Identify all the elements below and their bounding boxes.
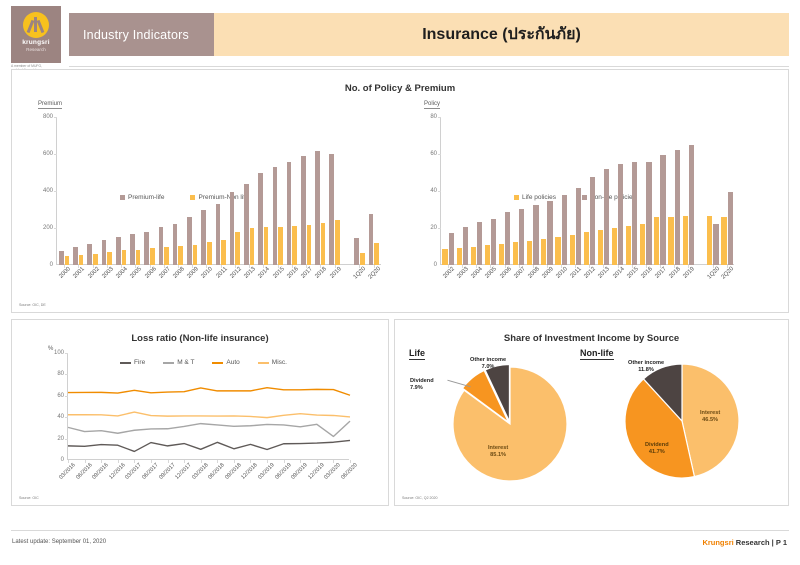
pie-life-interest-value: 85.1% xyxy=(490,452,506,458)
bar-group xyxy=(214,117,228,265)
pie-heading-nonlife: Non-life xyxy=(580,348,614,360)
x-axis-label-text: 2016 xyxy=(286,266,300,280)
y-axis-tick xyxy=(54,228,57,229)
x-axis-label: 2019 xyxy=(681,265,695,295)
x-axis-label-text: 2012 xyxy=(229,266,243,280)
x-axis-label: 2008 xyxy=(171,265,185,295)
krungsri-logo: krungsri Research xyxy=(11,6,61,63)
x-axis-tick xyxy=(284,460,285,463)
pie-life-dividend-name: Dividend xyxy=(410,378,434,384)
loss-ratio-line-plot: 03/201606/201609/201612/201603/201706/20… xyxy=(67,353,349,460)
x-axis-label: 2005 xyxy=(128,265,142,295)
x-axis-label: 2002 xyxy=(441,265,455,295)
x-axis-label: 2Q20 xyxy=(720,265,734,295)
x-axis-label-text: 2007 xyxy=(158,266,172,280)
bar-group xyxy=(582,117,596,265)
bar xyxy=(360,253,365,265)
bar xyxy=(668,217,673,265)
pie-nonlife-interest-name: Interest xyxy=(700,410,720,416)
x-axis-label: 2009 xyxy=(185,265,199,295)
y-axis-tick xyxy=(65,374,68,375)
bar-group xyxy=(228,117,242,265)
x-axis-label-text: 2010 xyxy=(555,266,569,280)
latest-update-text: Latest update: September 01, 2020 xyxy=(12,539,106,545)
x-axis-label: 2004 xyxy=(469,265,483,295)
bar-group xyxy=(720,117,734,265)
bar xyxy=(689,145,694,265)
x-axis-label-text: 2015 xyxy=(272,266,286,280)
x-axis-label: 2003 xyxy=(455,265,469,295)
bar xyxy=(660,155,665,265)
x-axis-label-text: 03/2016 xyxy=(58,462,77,481)
bar xyxy=(258,173,263,265)
bar-group xyxy=(171,117,185,265)
premium-x-labels: 2000200120022003200420052006200720082009… xyxy=(57,265,381,295)
x-axis-label xyxy=(342,265,353,295)
x-axis-label-text: 2016 xyxy=(640,266,654,280)
bar xyxy=(193,245,198,265)
x-axis-label-text: 2014 xyxy=(612,266,626,280)
x-axis-label-text: 2017 xyxy=(300,266,314,280)
x-axis-label-text: 03/2020 xyxy=(324,462,343,481)
bar xyxy=(87,244,92,265)
x-axis-label: 2012 xyxy=(228,265,242,295)
bar-group xyxy=(441,117,455,265)
bar xyxy=(449,233,454,265)
x-axis-label: 2006 xyxy=(498,265,512,295)
x-axis-label-text: 2005 xyxy=(485,266,499,280)
premium-axis-unit: Premium xyxy=(38,101,62,109)
x-axis-label-text: 06/2017 xyxy=(141,462,160,481)
pie-life-label-other: Other income 7.0% xyxy=(470,357,506,371)
x-axis-label-text: 2008 xyxy=(527,266,541,280)
x-axis-label-text: 12/2017 xyxy=(174,462,193,481)
bar xyxy=(250,228,255,265)
bar xyxy=(315,151,320,265)
x-axis-label-text: 2005 xyxy=(130,266,144,280)
bar xyxy=(463,227,468,265)
bar xyxy=(584,232,589,265)
x-axis-label-text: 2011 xyxy=(570,266,583,279)
y-axis-tick-label: 0 xyxy=(434,262,441,268)
x-axis-label-text: 2018 xyxy=(668,266,682,280)
pie-chart-nonlife xyxy=(623,362,741,480)
bar xyxy=(292,226,297,265)
bar xyxy=(713,224,718,265)
y-axis-tick xyxy=(438,154,441,155)
x-axis-label: 2010 xyxy=(554,265,568,295)
y-axis-tick-label: 0 xyxy=(50,262,57,268)
x-axis-tick xyxy=(217,460,218,463)
x-axis-label-text: 2014 xyxy=(258,266,272,280)
bar-group xyxy=(469,117,483,265)
bar xyxy=(216,204,221,265)
policy-x-labels: 2002200320042005200620072008200920102011… xyxy=(441,265,734,295)
y-axis-tick xyxy=(65,417,68,418)
x-axis-label: 2017 xyxy=(299,265,313,295)
bar xyxy=(547,201,552,265)
x-axis-label-text: 2011 xyxy=(215,266,228,279)
bar xyxy=(150,248,155,265)
x-axis-label-text: 2019 xyxy=(329,266,343,280)
pie-life-label-interest: Interest 85.1% xyxy=(488,445,508,459)
panel-investment-income: Share of Investment Income by Source Lif… xyxy=(394,319,789,506)
bar xyxy=(721,217,726,265)
bar-group xyxy=(271,117,285,265)
x-axis-label-text: 2009 xyxy=(186,266,200,280)
x-axis-label xyxy=(695,265,706,295)
y-axis-tick xyxy=(65,353,68,354)
x-axis-label-text: 2007 xyxy=(513,266,527,280)
pie-chart-life xyxy=(451,365,569,483)
pie-nonlife-other-name: Other income xyxy=(628,360,664,366)
pie-nonlife-label-interest: Interest 46.5% xyxy=(700,410,720,424)
x-axis-tick xyxy=(85,460,86,463)
footer-separator: | xyxy=(772,538,774,547)
panel-pies-source: Source: OIC, Q2 2020 xyxy=(402,496,438,500)
policy-bar-plot: 2002200320042005200620072008200920102011… xyxy=(440,117,734,265)
x-axis-label-text: 2000 xyxy=(58,266,72,280)
bar xyxy=(626,226,631,265)
bar xyxy=(107,252,112,265)
panel-loss-ratio-source: Source: OIC xyxy=(19,496,39,500)
bar xyxy=(201,210,206,265)
bar xyxy=(499,244,504,265)
x-axis-label: 2009 xyxy=(540,265,554,295)
bar xyxy=(612,228,617,265)
bar xyxy=(159,227,164,265)
x-axis-label-text: 1Q20 xyxy=(706,266,721,281)
bar xyxy=(93,254,98,265)
bar xyxy=(457,248,462,265)
footer-brand: Krungsri Research | P 1 xyxy=(702,538,787,547)
x-axis-label-text: 2004 xyxy=(471,266,485,280)
bar-group xyxy=(256,117,270,265)
bar xyxy=(122,250,127,265)
bar xyxy=(598,230,603,265)
pie-nonlife-label-other: Other income 11.8% xyxy=(628,360,664,374)
bar xyxy=(513,242,518,265)
pie-life-label-dividend: Dividend 7.9% xyxy=(410,378,434,392)
bar-group xyxy=(352,117,366,265)
y-axis-tick xyxy=(65,396,68,397)
bar xyxy=(278,227,283,265)
x-axis-label-text: 09/2017 xyxy=(158,462,177,481)
logo-subtitle: Research xyxy=(26,47,46,53)
bar xyxy=(374,243,379,265)
y-axis-tick-label: 0 xyxy=(61,457,68,463)
x-axis-label-text: 09/2019 xyxy=(290,462,309,481)
bar xyxy=(329,154,334,265)
x-axis-label: 1Q20 xyxy=(706,265,720,295)
bar-group xyxy=(128,117,142,265)
x-axis-label: 2013 xyxy=(596,265,610,295)
x-axis-label: 2015 xyxy=(625,265,639,295)
bar xyxy=(570,235,575,265)
bar xyxy=(505,212,510,265)
bar-group xyxy=(681,117,695,265)
pie-nonlife-other-value: 11.8% xyxy=(638,367,654,373)
pie-heading-life: Life xyxy=(409,348,425,360)
x-axis-label-text: 12/2018 xyxy=(241,462,260,481)
panel-policy-premium-source: Source: OIC, DE xyxy=(19,303,46,307)
x-axis-tick xyxy=(101,460,102,463)
x-axis-label: 2018 xyxy=(313,265,327,295)
pie-nonlife-dividend-name: Dividend xyxy=(645,442,669,448)
bar xyxy=(287,162,292,265)
x-axis-label-text: 1Q20 xyxy=(353,266,368,281)
x-axis-tick xyxy=(234,460,235,463)
x-axis-label-text: 2017 xyxy=(654,266,668,280)
bar-group xyxy=(57,117,71,265)
x-axis-label: 2001 xyxy=(71,265,85,295)
bar xyxy=(264,227,269,265)
x-axis-label-text: 2004 xyxy=(115,266,129,280)
x-axis-label: 2012 xyxy=(582,265,596,295)
bar-group xyxy=(596,117,610,265)
bar xyxy=(65,256,70,265)
bar xyxy=(640,224,645,265)
x-axis-label-text: 03/2017 xyxy=(125,462,144,481)
bar xyxy=(485,245,490,265)
x-axis-label: 2003 xyxy=(100,265,114,295)
bar xyxy=(541,239,546,265)
bar xyxy=(307,225,312,265)
x-axis-label-text: 06/2020 xyxy=(340,462,359,481)
x-axis-tick xyxy=(134,460,135,463)
x-axis-label-text: 2015 xyxy=(626,266,640,280)
line-series xyxy=(68,412,350,418)
footer-divider xyxy=(11,530,789,531)
x-axis-label: 1Q20 xyxy=(352,265,366,295)
bar xyxy=(164,247,169,266)
logo-wordmark: krungsri xyxy=(22,39,50,47)
x-axis-label: 2004 xyxy=(114,265,128,295)
bar-group xyxy=(498,117,512,265)
bar xyxy=(230,192,235,265)
x-axis-label: 2Q20 xyxy=(367,265,381,295)
bar xyxy=(144,232,149,265)
bar xyxy=(102,240,107,265)
bar xyxy=(59,251,64,265)
bar-group xyxy=(142,117,156,265)
x-axis-label: 2010 xyxy=(199,265,213,295)
bar xyxy=(136,250,141,265)
bar xyxy=(707,216,712,265)
bar xyxy=(173,224,178,265)
x-axis-label-text: 09/2018 xyxy=(224,462,243,481)
bar xyxy=(207,242,212,265)
x-axis-tick xyxy=(317,460,318,463)
bar-group xyxy=(568,117,582,265)
x-axis-label: 2007 xyxy=(512,265,526,295)
pie-life-interest-name: Interest xyxy=(488,445,508,451)
bar-group xyxy=(367,117,381,265)
policy-axis-unit: Policy xyxy=(424,101,440,109)
bar-group xyxy=(667,117,681,265)
pie-life-other-value: 7.0% xyxy=(482,364,495,370)
bar xyxy=(728,192,733,265)
header-divider xyxy=(69,66,789,67)
pie-life-other-name: Other income xyxy=(470,357,506,363)
bar xyxy=(654,217,659,265)
x-axis-label-text: 2006 xyxy=(144,266,158,280)
x-axis-label-text: 2003 xyxy=(456,266,470,280)
bar xyxy=(604,169,609,265)
premium-bars xyxy=(57,117,381,265)
pie-nonlife-dividend-value: 41.7% xyxy=(649,449,665,455)
x-axis-label: 2011 xyxy=(568,265,582,295)
x-axis-label-text: 2012 xyxy=(584,266,598,280)
y-axis-tick xyxy=(438,191,441,192)
bar xyxy=(555,237,560,265)
x-axis-label: 2019 xyxy=(327,265,341,295)
x-axis-label: 2008 xyxy=(526,265,540,295)
bar xyxy=(576,188,581,265)
x-axis-label-text: 2013 xyxy=(243,266,257,280)
bar-group xyxy=(299,117,313,265)
x-axis-tick xyxy=(201,460,202,463)
bar xyxy=(335,220,340,265)
x-axis-label-text: 06/2018 xyxy=(208,462,227,481)
section-tag: Industry Indicators xyxy=(69,13,214,56)
x-axis-label-text: 2008 xyxy=(172,266,186,280)
y-axis-tick xyxy=(65,439,68,440)
x-axis-label-text: 2013 xyxy=(598,266,612,280)
bar xyxy=(301,156,306,265)
x-axis-tick xyxy=(300,460,301,463)
bar-group xyxy=(540,117,554,265)
x-axis-label-text: 2010 xyxy=(201,266,215,280)
footer-page-number: P 1 xyxy=(776,538,787,547)
x-axis-label: 2002 xyxy=(85,265,99,295)
x-axis-tick xyxy=(68,460,69,463)
bar-group-gap xyxy=(342,117,353,265)
x-axis-label: 2011 xyxy=(214,265,228,295)
bar xyxy=(79,255,84,265)
bar xyxy=(235,232,240,265)
x-axis-label-text: 03/2018 xyxy=(191,462,210,481)
x-axis-label-text: 2001 xyxy=(73,266,87,280)
bar xyxy=(590,177,595,265)
x-axis-label-text: 2003 xyxy=(101,266,115,280)
bar xyxy=(442,249,447,265)
bar xyxy=(369,214,374,265)
x-axis-tick xyxy=(267,460,268,463)
bar xyxy=(562,195,567,265)
x-axis-label-text: 2019 xyxy=(682,266,696,280)
bar-group xyxy=(313,117,327,265)
x-axis-tick xyxy=(151,460,152,463)
bar xyxy=(519,209,524,265)
y-axis-tick xyxy=(438,117,441,118)
bar-group xyxy=(327,117,341,265)
line-series xyxy=(68,388,350,396)
panel-policy-premium-title: No. of Policy & Premium xyxy=(12,83,788,94)
y-axis-tick xyxy=(54,154,57,155)
footer-research-label: Research xyxy=(736,538,770,547)
bar xyxy=(533,205,538,265)
bar xyxy=(187,217,192,265)
x-axis-label-text: 2018 xyxy=(315,266,329,280)
x-axis-label-text: 2Q20 xyxy=(367,266,382,281)
page-title: Insurance (ประกันภัย) xyxy=(214,13,789,56)
bar xyxy=(683,216,688,265)
bar xyxy=(618,164,623,265)
x-axis-label: 2016 xyxy=(639,265,653,295)
bar xyxy=(646,162,651,265)
x-axis-label: 2014 xyxy=(256,265,270,295)
x-axis-label-text: 2Q20 xyxy=(721,266,736,281)
bar-group xyxy=(455,117,469,265)
bar xyxy=(491,219,496,265)
x-axis-label-text: 09/2016 xyxy=(91,462,110,481)
line-series xyxy=(68,440,350,451)
bar xyxy=(477,222,482,265)
y-axis-tick xyxy=(54,117,57,118)
bar-group xyxy=(526,117,540,265)
x-axis-tick xyxy=(184,460,185,463)
y-axis-tick xyxy=(438,228,441,229)
x-axis-label: 2000 xyxy=(57,265,71,295)
x-axis-label-text: 06/2019 xyxy=(274,462,293,481)
bar xyxy=(527,241,532,265)
bar xyxy=(244,184,249,265)
pie-nonlife-label-dividend: Dividend 41.7% xyxy=(645,442,669,456)
footer-brand-name: Krungsri xyxy=(702,538,733,547)
bar xyxy=(178,246,183,265)
x-axis-label: 2006 xyxy=(142,265,156,295)
bar-group xyxy=(71,117,85,265)
bar-group xyxy=(653,117,667,265)
pie-nonlife-interest-value: 46.5% xyxy=(702,417,718,423)
x-axis-label: 2007 xyxy=(157,265,171,295)
x-axis-label-text: 2002 xyxy=(87,266,101,280)
bar-group xyxy=(706,117,720,265)
bar-group xyxy=(285,117,299,265)
bar-group xyxy=(639,117,653,265)
bar xyxy=(116,237,121,265)
bar-group xyxy=(554,117,568,265)
bar xyxy=(354,238,359,265)
bar xyxy=(221,240,226,265)
bar-group xyxy=(199,117,213,265)
bar xyxy=(675,150,680,265)
bar xyxy=(273,167,278,265)
x-axis-label: 2015 xyxy=(271,265,285,295)
panel-loss-ratio-title: Loss ratio (Non-life insurance) xyxy=(12,333,388,344)
bar-group xyxy=(185,117,199,265)
page-header: krungsri Research A member of MUFG, a gl… xyxy=(0,0,800,68)
bar-group xyxy=(157,117,171,265)
x-axis-tick xyxy=(168,460,169,463)
x-axis-label-text: 12/2019 xyxy=(307,462,326,481)
bar-group xyxy=(611,117,625,265)
x-axis-label-text: 2006 xyxy=(499,266,513,280)
x-axis-label-text: 03/2019 xyxy=(257,462,276,481)
pie-life-dividend-value: 7.9% xyxy=(410,385,423,391)
policy-bars xyxy=(441,117,734,265)
x-axis-tick xyxy=(250,460,251,463)
bar-group xyxy=(242,117,256,265)
bar xyxy=(130,234,135,265)
panel-loss-ratio: Loss ratio (Non-life insurance) % FireM … xyxy=(11,319,389,506)
y-axis-tick xyxy=(54,191,57,192)
bar xyxy=(471,247,476,266)
bar-group xyxy=(483,117,497,265)
bar-group xyxy=(114,117,128,265)
x-axis-label: 2017 xyxy=(653,265,667,295)
